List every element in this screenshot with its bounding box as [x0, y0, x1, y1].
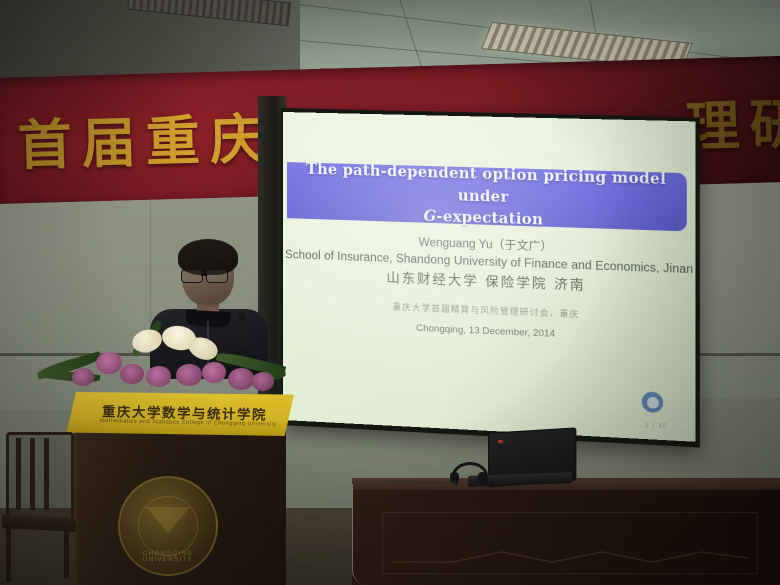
title-line2-rest: -expectation	[436, 207, 543, 228]
slide-title-line-1: The path-dependent option pricing model …	[287, 159, 687, 214]
projection-screen: The path-dependent option pricing model …	[283, 112, 695, 442]
slide-title-line-2: G-expectation	[424, 205, 544, 230]
chair-slat	[16, 438, 21, 510]
headphone-earcup	[478, 472, 487, 484]
table-front-panel	[382, 512, 758, 574]
chongqing-university-emblem: CHONGQING UNIVERSITY	[118, 476, 218, 576]
eyeglasses-icon	[206, 269, 228, 283]
chair-leg	[64, 528, 69, 578]
hanging-cable	[352, 484, 367, 585]
orchid-bloom	[202, 362, 226, 383]
eyeglasses-icon	[181, 269, 203, 283]
orchid-bloom	[146, 366, 171, 387]
slide-title-bar: The path-dependent option pricing model …	[287, 162, 687, 231]
slide-page-number: 1 / 40	[645, 423, 667, 430]
chair-slat	[30, 438, 35, 510]
chair-slat	[44, 438, 49, 510]
emblem-triangle	[146, 507, 190, 533]
table-panel-molding	[392, 548, 748, 564]
wooden-chair	[2, 432, 80, 582]
orchid-bloom	[176, 364, 202, 386]
microphone-head	[239, 313, 246, 322]
chair-leg	[6, 528, 11, 582]
shandong-university-logo	[642, 391, 663, 413]
slide-body: Wenguang Yu（于文广） School of Insurance, Sh…	[283, 230, 695, 348]
emblem-text: CHONGQING UNIVERSITY	[120, 551, 216, 563]
eyeglasses-bridge	[201, 274, 207, 276]
conference-room-photo: 首届重庆 理研讨 The path-dependent option prici…	[0, 0, 780, 585]
orchid-bloom	[252, 372, 274, 391]
laptop-logo-icon	[498, 440, 503, 443]
orchid-bloom	[96, 352, 122, 374]
orchid-bloom	[120, 364, 144, 384]
title-italic-G: G	[424, 207, 437, 225]
orchid-bloom	[72, 368, 94, 386]
orchid-bloom	[228, 368, 254, 390]
